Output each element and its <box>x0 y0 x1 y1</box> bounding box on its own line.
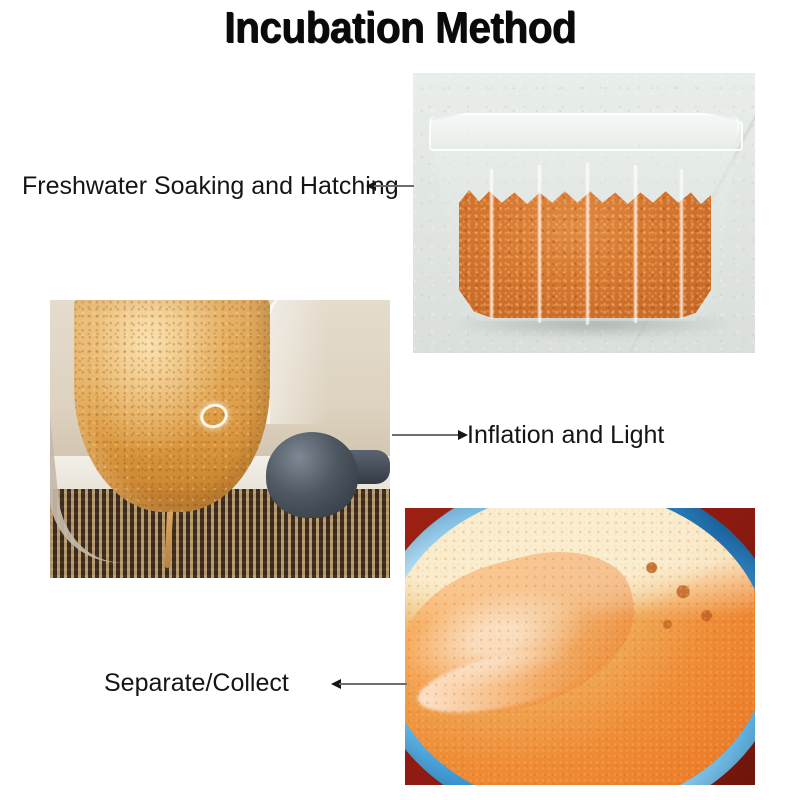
tray-rib <box>633 165 638 323</box>
callout-label-inflation-and-light: Inflation and Light <box>467 420 664 450</box>
cone-jar-edge <box>266 300 330 424</box>
arrow-shaft <box>374 185 414 187</box>
page-title: Incubation Method <box>32 2 768 54</box>
photo-separate-collect-bowl <box>405 508 755 785</box>
tray-rib <box>585 163 590 325</box>
photo-freshwater-soaking-tray <box>413 73 755 353</box>
bowl-contents <box>405 508 755 785</box>
callout-label-freshwater-soaking-and-hatching: Freshwater Soaking and Hatching <box>22 171 399 201</box>
photo-inflation-and-light-cone <box>50 300 390 578</box>
arrow-shaft <box>339 683 407 685</box>
tray-rib <box>679 169 684 319</box>
callout-arrow-inflation-and-light <box>392 429 468 441</box>
callout-label-separate-collect: Separate/Collect <box>104 668 289 698</box>
tray-rib <box>537 165 542 323</box>
callout-arrow-separate-collect <box>331 678 407 690</box>
tray-rim <box>429 113 743 151</box>
cone-air-bulb <box>266 432 358 518</box>
tray-rib <box>489 169 494 319</box>
callout-arrow-freshwater-soaking-and-hatching <box>366 180 414 192</box>
infographic-canvas: Incubation Method <box>0 0 800 800</box>
arrow-shaft <box>392 434 460 436</box>
bowl-nauplii-texture <box>405 508 755 785</box>
